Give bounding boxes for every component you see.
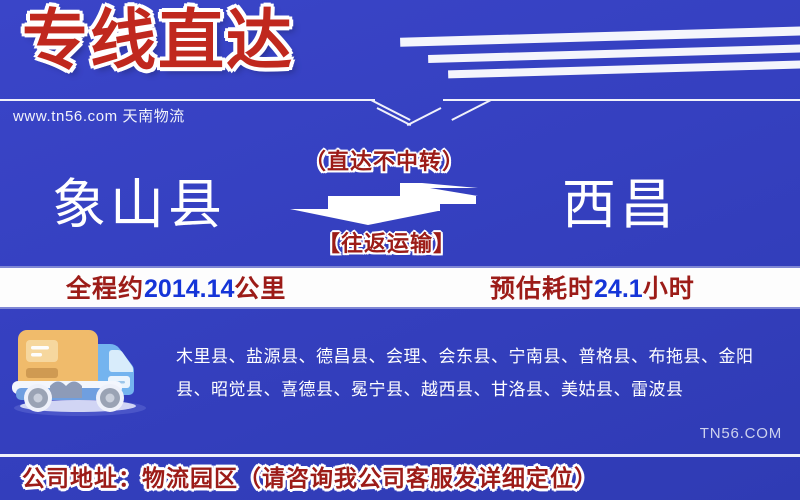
distance-unit-label: 公里 (234, 275, 286, 303)
distance-value: 2014.14 (144, 275, 234, 303)
estimated-time-readout: 预估耗时24.1小时 (490, 271, 695, 307)
bidirectional-arrow-icon (288, 183, 480, 225)
return-transport-label: 【往返运输】 (318, 226, 456, 258)
time-unit-label: 小时 (643, 275, 695, 303)
chevron-down-icon (371, 97, 447, 131)
info-band: 全程约2014.14公里 预估耗时24.1小时 (0, 266, 800, 309)
origin-city-label: 象山县 (52, 150, 226, 260)
speed-stripe-1 (400, 26, 800, 47)
headline-title: 专线直达 (22, 2, 294, 80)
time-value: 24.1 (594, 275, 643, 303)
time-prefix-label: 预估耗时 (490, 275, 594, 303)
distance-prefix-label: 全程约 (66, 275, 144, 303)
footer-bar: 公司地址：物流园区（请咨询我公司客服发详细定位） (0, 457, 800, 500)
speed-stripe-3 (448, 60, 800, 78)
header-divider-right (443, 99, 800, 101)
destination-city-label: 西昌 (562, 150, 678, 260)
header-divider-left (0, 99, 375, 101)
delivery-truck-icon (8, 318, 160, 418)
speed-stripe-2 (428, 44, 800, 63)
site-url-label: www.tn56.com 天南物流 (13, 105, 185, 126)
total-distance-readout: 全程约2014.14公里 (66, 271, 286, 307)
direct-service-label: （直达不中转） (304, 144, 465, 176)
route-row: 象山县 西昌 （直达不中转） 【往返运输】 (0, 150, 800, 260)
logistics-route-banner: 专线直达 www.tn56.com 天南物流 象山县 西昌 （直达不中转） 【往… (0, 0, 800, 500)
company-address-label: 公司地址：物流园区（请咨询我公司客服发详细定位） (22, 459, 598, 497)
watermark-label: TN56.COM (700, 425, 782, 442)
coverage-city-list: 木里县、盐源县、德昌县、会理、会东县、宁南县、普格县、布拖县、金阳县、昭觉县、喜… (176, 340, 772, 406)
